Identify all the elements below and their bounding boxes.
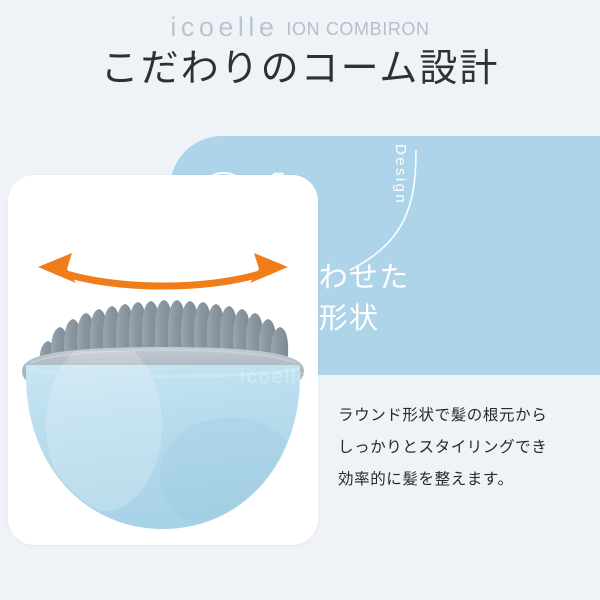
product-illustration: icoelle bbox=[8, 175, 318, 545]
feature-description: ラウンド形状で髪の根元から しっかりとスタイリングでき 効率的に髪を整えます。 bbox=[338, 400, 588, 496]
feature-description-line-3: 効率的に髪を整えます。 bbox=[338, 464, 588, 496]
width-double-arrow-icon bbox=[38, 253, 288, 286]
feature-description-line-1: ラウンド形状で髪の根元から bbox=[338, 400, 588, 432]
product-photo-card: icoelle bbox=[8, 175, 318, 545]
brand-suffix: ION COMBIRON bbox=[286, 20, 429, 38]
product-emboss-logo: icoelle bbox=[240, 366, 311, 388]
brand-name: icoelle bbox=[170, 14, 278, 41]
brand-lockup: icoelleION COMBIRON bbox=[0, 14, 600, 41]
feature-description-line-2: しっかりとスタイリングでき bbox=[338, 432, 588, 464]
page-title: こだわりのコーム設計 bbox=[0, 48, 600, 92]
feature-kicker-label: Design bbox=[392, 144, 409, 205]
swoosh-decoration-icon bbox=[320, 146, 450, 276]
promo-canvas: icoelleION COMBIRON こだわりのコーム設計 01 Design… bbox=[0, 0, 600, 600]
